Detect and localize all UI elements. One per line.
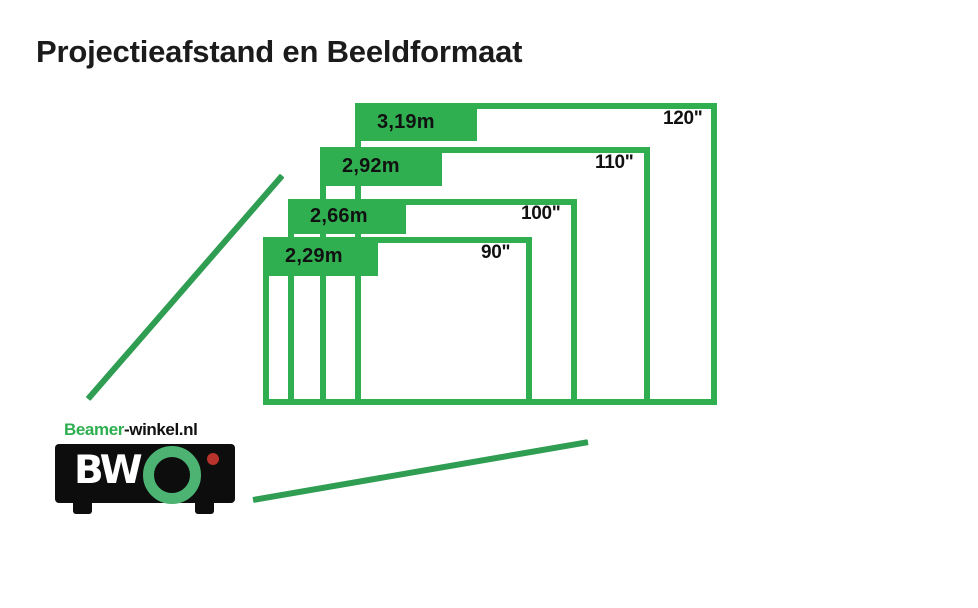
brand-logo[interactable]: Beamer-winkel.nl BW — [55, 420, 235, 520]
size-label-110: 110" — [595, 152, 633, 174]
projector-indicator-icon — [207, 453, 219, 465]
distance-label-120: 3,19m — [377, 111, 435, 134]
throw-line-upper — [86, 174, 285, 401]
size-label-90: 90" — [481, 242, 510, 264]
projector-foot-right-icon — [195, 503, 214, 514]
logo-wordmark: Beamer-winkel.nl — [64, 420, 197, 440]
throw-line-lower — [252, 439, 588, 503]
diagram-canvas: Projectieafstand en Beeldformaat 120" 11… — [0, 0, 978, 608]
logo-wordmark-green: Beamer — [64, 420, 124, 439]
distance-label-110: 2,92m — [342, 155, 400, 178]
size-label-100: 100" — [521, 203, 561, 225]
distance-bar-100: 2,66m — [288, 199, 406, 234]
distance-bar-120: 3,19m — [355, 103, 477, 141]
distance-label-90: 2,29m — [285, 245, 343, 268]
distance-label-100: 2,66m — [310, 205, 368, 228]
logo-monogram: BW — [74, 451, 141, 490]
projector-foot-left-icon — [73, 503, 92, 514]
distance-bar-90: 2,29m — [263, 237, 378, 276]
size-label-120: 120" — [663, 108, 703, 130]
projector-lens-icon — [143, 446, 201, 504]
logo-wordmark-dark: -winkel.nl — [124, 420, 197, 439]
distance-bar-110: 2,92m — [320, 147, 442, 186]
